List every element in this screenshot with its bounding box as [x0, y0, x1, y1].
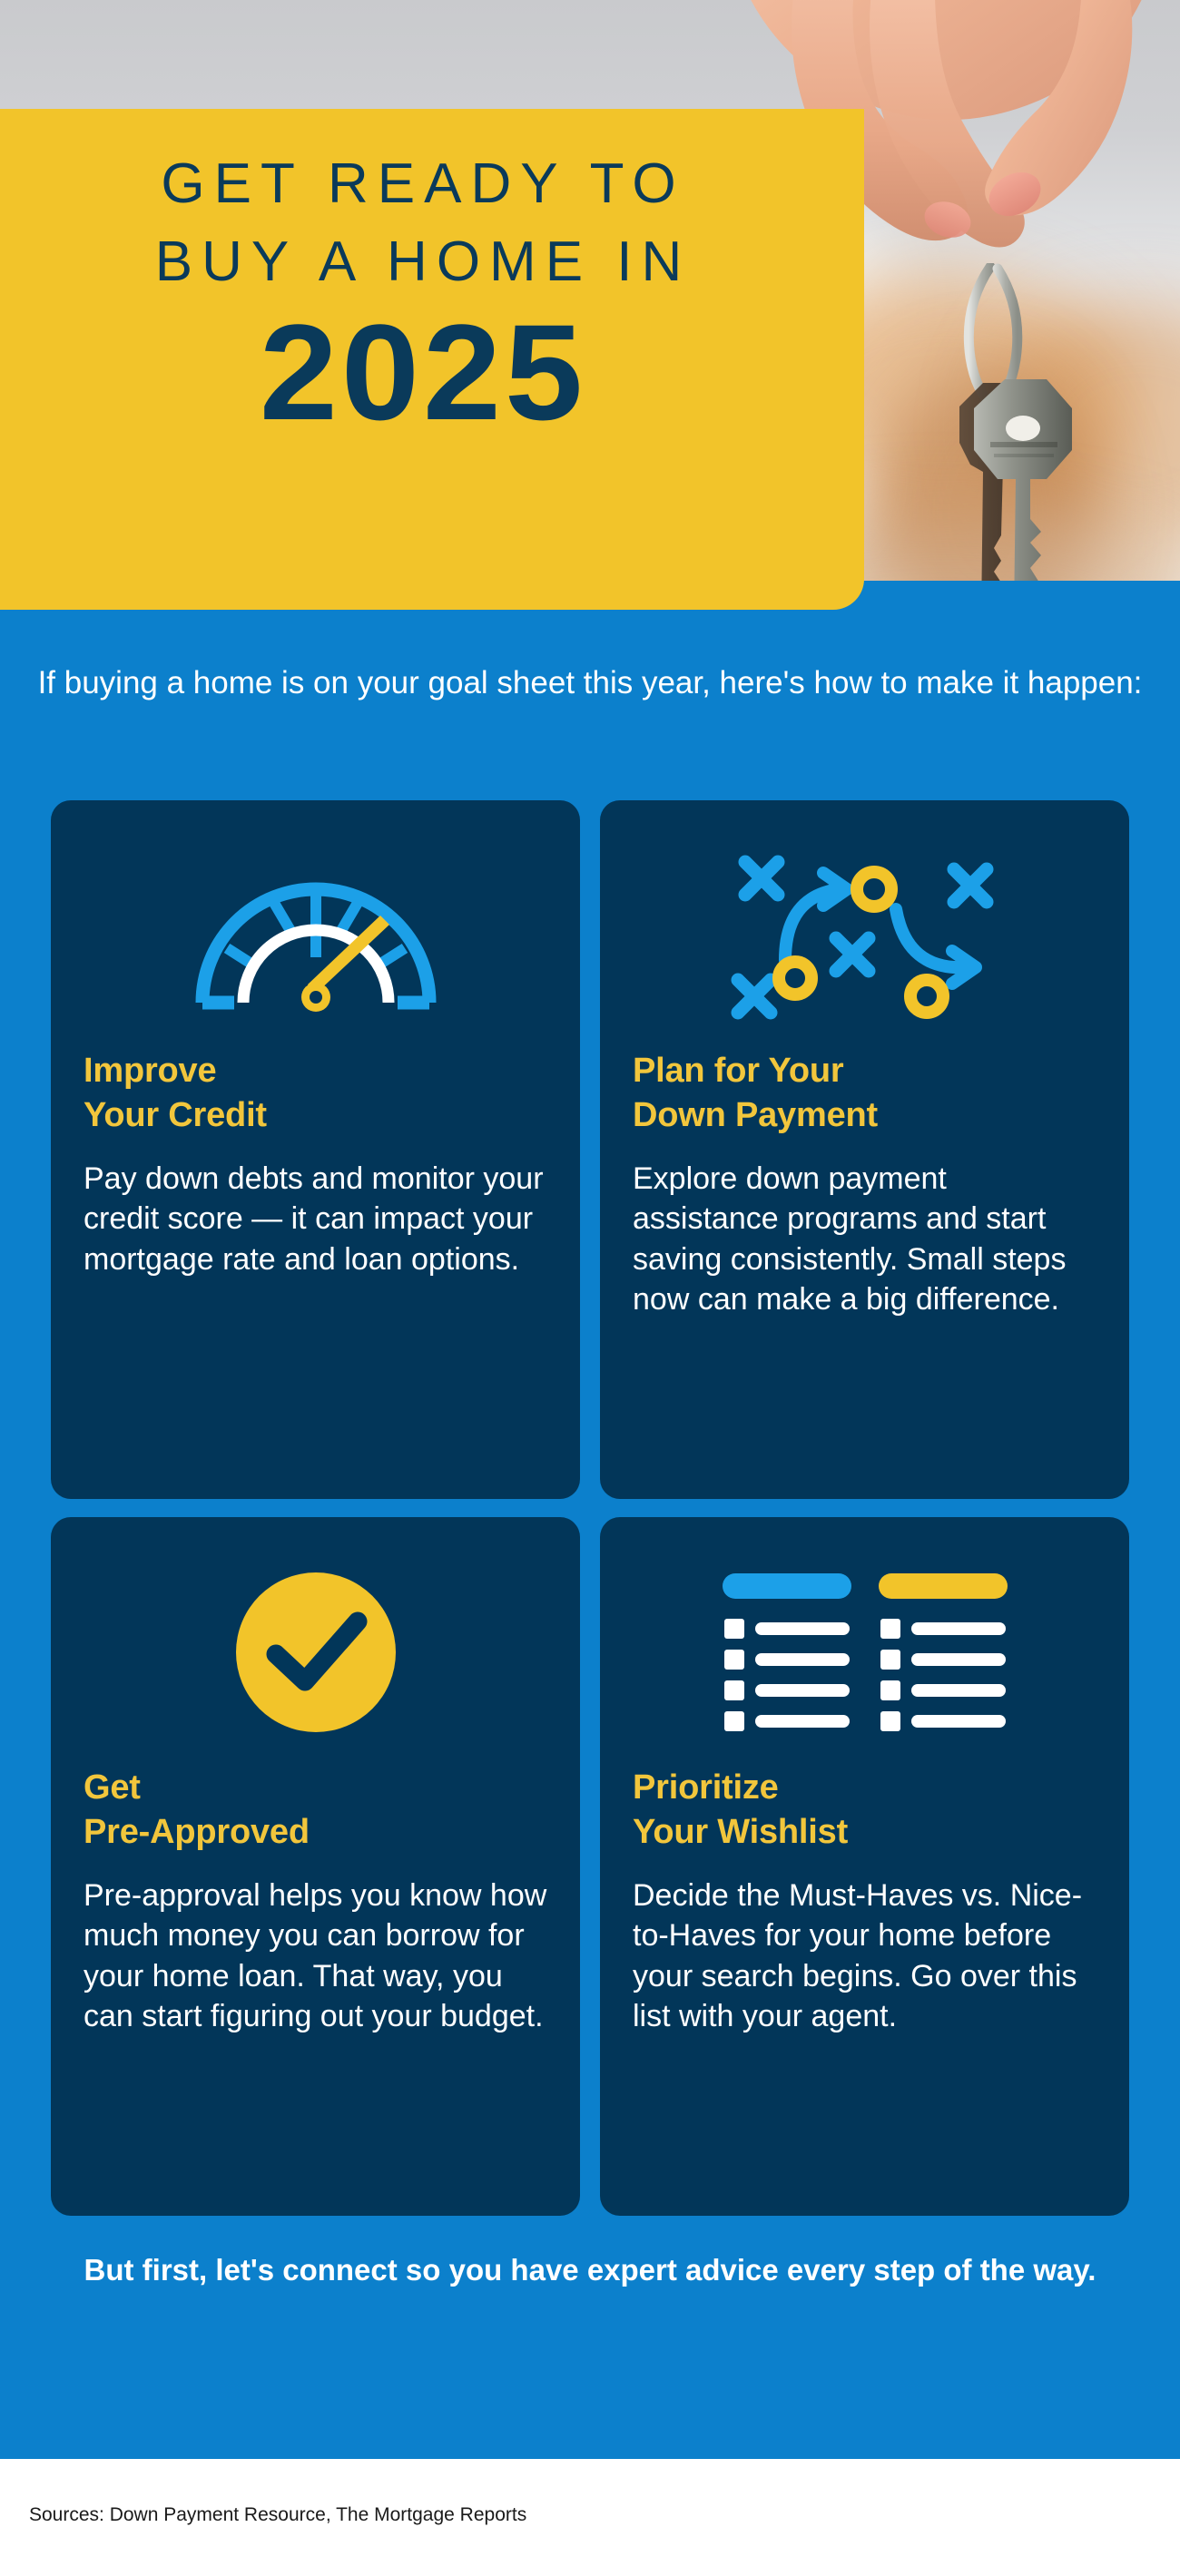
- dual-checklist-icon: [633, 1548, 1096, 1757]
- credit-score-gauge-icon: [84, 831, 547, 1040]
- play-strategy-xs-and-os-icon: [633, 831, 1096, 1040]
- card-improve-your-credit: Improve Your Credit Pay down debts and m…: [51, 800, 580, 1499]
- sources-strip: Sources: Down Payment Resource, The Mort…: [0, 2459, 1180, 2576]
- house-keys-icon: [903, 263, 1103, 581]
- checklist-header-yellow: [879, 1573, 1008, 1599]
- title-year: 2025: [25, 302, 821, 443]
- cta-text: But first, let's connect so you have exp…: [0, 2250, 1180, 2290]
- card-title: Get Pre-Approved: [84, 1766, 547, 1854]
- sources-text: Sources: Down Payment Resource, The Mort…: [29, 2504, 526, 2526]
- card-title: Plan for Your Down Payment: [633, 1049, 1096, 1137]
- card-grid: Improve Your Credit Pay down debts and m…: [51, 800, 1129, 2216]
- card-body: Explore down payment assistance programs…: [633, 1159, 1096, 1319]
- title-line-2: BUY A HOME IN: [36, 223, 810, 301]
- infographic-root: GET READY TO BUY A HOME IN 2025 If buyin…: [0, 0, 1180, 2576]
- title-block: GET READY TO BUY A HOME IN 2025: [0, 109, 864, 610]
- card-prioritize-your-wishlist: Prioritize Your Wishlist Decide the Must…: [600, 1517, 1129, 2216]
- card-get-pre-approved: Get Pre-Approved Pre-approval helps you …: [51, 1517, 580, 2216]
- card-plan-for-your-down-payment: Plan for Your Down Payment Explore down …: [600, 800, 1129, 1499]
- card-body: Decide the Must-Haves vs. Nice-to-Haves …: [633, 1876, 1096, 2036]
- checkmark-circle-icon: [84, 1548, 547, 1757]
- title-line-1: GET READY TO: [36, 145, 810, 223]
- card-title: Prioritize Your Wishlist: [633, 1766, 1096, 1854]
- checklist-header-blue: [723, 1573, 851, 1599]
- subtitle: If buying a home is on your goal sheet t…: [0, 662, 1180, 704]
- card-body: Pre-approval helps you know how much mon…: [84, 1876, 547, 2036]
- card-body: Pay down debts and monitor your credit s…: [84, 1159, 547, 1279]
- card-title: Improve Your Credit: [84, 1049, 547, 1137]
